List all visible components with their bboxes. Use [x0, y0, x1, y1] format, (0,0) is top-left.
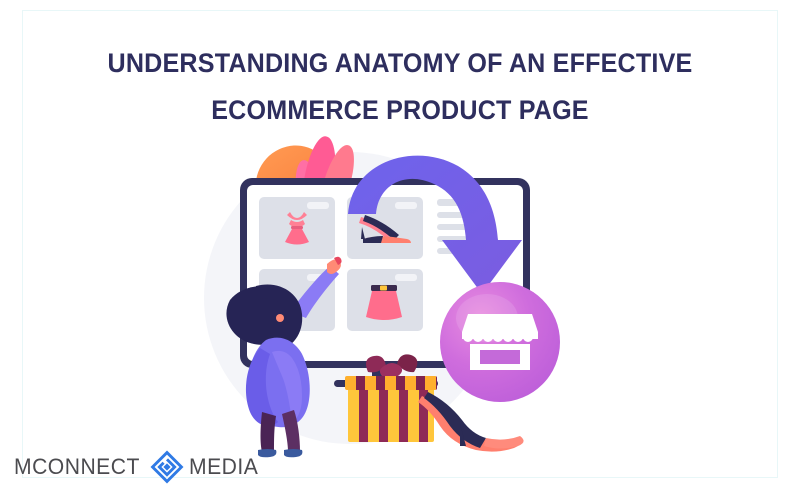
placeholder-line — [437, 199, 481, 206]
page-title-line-2: ECOMMERCE PRODUCT PAGE — [65, 87, 735, 134]
product-card-dress[interactable] — [259, 197, 335, 259]
brand-logo[interactable]: MCONNECT MEDIA — [14, 450, 261, 484]
logo-text-right: MEDIA — [189, 454, 258, 480]
gift-box-lid — [345, 376, 437, 390]
storefront-icon — [462, 310, 538, 372]
slide-canvas: UNDERSTANDING ANATOMY OF AN EFFECTIVE EC… — [0, 0, 800, 500]
placeholder-line — [437, 248, 481, 254]
placeholder-line — [437, 236, 467, 242]
placeholder-line — [437, 212, 471, 218]
product-description-placeholder — [437, 199, 487, 260]
placeholder-line — [437, 224, 477, 230]
ecommerce-illustration — [196, 130, 596, 460]
page-title: UNDERSTANDING ANATOMY OF AN EFFECTIVE EC… — [65, 40, 735, 134]
high-heel-shoe-icon — [353, 209, 419, 251]
woman-shopper-character — [226, 256, 346, 460]
logo-text-left: MCONNECT — [14, 454, 140, 480]
pink-skirt-icon — [363, 283, 407, 327]
nested-diamond-icon — [150, 450, 184, 484]
page-title-line-1: UNDERSTANDING ANATOMY OF AN EFFECTIVE — [65, 40, 735, 87]
high-heel-shoes-icon — [414, 390, 534, 452]
pink-dress-icon — [274, 206, 320, 252]
product-card-heels[interactable] — [347, 197, 423, 259]
product-card-skirt[interactable] — [347, 269, 423, 331]
price-tag-placeholder — [395, 274, 417, 281]
storefront-badge — [440, 282, 560, 402]
price-tag-placeholder — [395, 202, 417, 209]
